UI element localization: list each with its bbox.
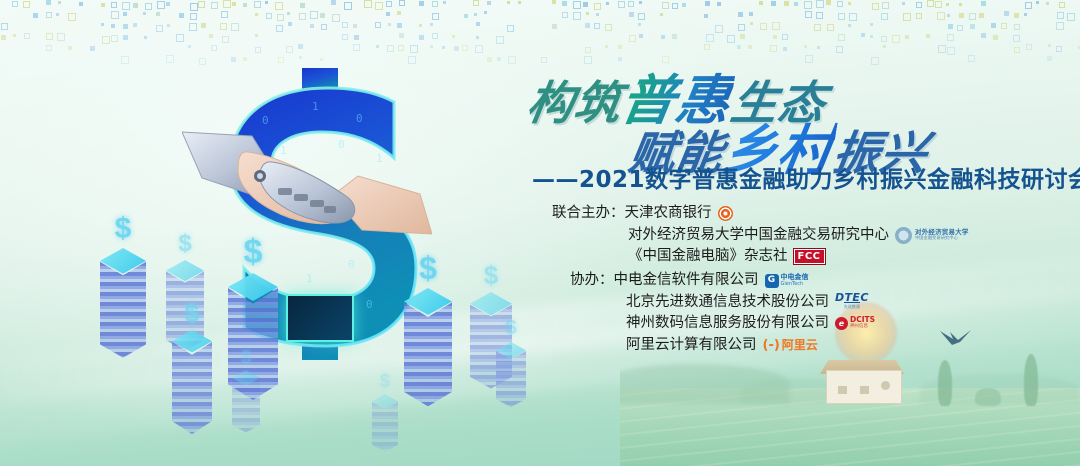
mosaic-square (507, 25, 514, 32)
mosaic-square (892, 35, 900, 43)
mosaic-square (947, 14, 950, 17)
dollar-sign-icon: $ (172, 300, 212, 326)
mosaic-square (145, 3, 152, 10)
sponsors-label: 协办： (570, 270, 614, 292)
mosaic-square (399, 0, 405, 6)
mosaic-square (1056, 46, 1062, 52)
mosaic-square (981, 1, 986, 6)
mosaic-square (870, 23, 873, 26)
mosaic-square (605, 45, 608, 48)
mosaic-square (397, 11, 401, 15)
aliyun-logo: (-) 阿里云 (763, 339, 818, 352)
sponsor-row: 神州数码信息服务股份有限公司 e DCITS 神州信息 (570, 313, 875, 335)
mosaic-square (101, 23, 104, 26)
mosaic-square (705, 1, 710, 6)
mosaic-square (738, 24, 745, 31)
mosaic-square (156, 25, 163, 32)
mosaic-square (399, 33, 404, 38)
mosaic-square (596, 13, 599, 16)
mosaic-square (662, 2, 669, 9)
uibe-logo-sub: 中国金融交易研究中心 (915, 235, 969, 241)
mosaic-square (299, 13, 306, 20)
mosaic-square (1026, 44, 1032, 50)
sponsor-name: 北京先进数通信息技术股份公司 (626, 292, 829, 314)
mosaic-square (443, 1, 446, 4)
mosaic-square (583, 2, 588, 7)
sponsor-name: 阿里云计算有限公司 (626, 335, 757, 357)
mosaic-square (562, 12, 568, 18)
mosaic-square (661, 35, 665, 39)
mosaic-square (133, 23, 137, 27)
mosaic-square (298, 44, 303, 49)
mosaic-square (993, 35, 998, 40)
coin-stack: $ (496, 318, 526, 408)
mosaic-square (398, 45, 404, 51)
mosaic-square (90, 46, 95, 51)
mosaic-square (804, 45, 807, 48)
svg-text:0: 0 (348, 258, 355, 271)
mosaic-square (442, 46, 445, 49)
mosaic-square (1048, 44, 1051, 47)
mosaic-square (783, 47, 787, 51)
mosaic-square (937, 12, 945, 20)
mosaic-square (959, 13, 964, 18)
mosaic-square (946, 3, 949, 6)
mosaic-square (508, 56, 516, 64)
mosaic-square (826, 0, 831, 5)
fcc-logo-text: FCC (794, 249, 825, 264)
mosaic-square (222, 36, 229, 43)
mosaic-square (883, 45, 886, 48)
fcc-logo: FCC (794, 249, 825, 264)
mosaic-square (209, 34, 213, 38)
mosaic-square (179, 13, 184, 18)
mosaic-square (594, 3, 601, 10)
mosaic-square (805, 11, 812, 18)
conference-banner: 010 101 010 10 (0, 0, 1080, 466)
mosaic-square (276, 25, 283, 32)
mosaic-square (223, 0, 231, 8)
mosaic-square (1004, 11, 1009, 16)
mosaic-square (1014, 24, 1020, 30)
mosaic-square (902, 2, 905, 5)
mosaic-square (848, 24, 851, 27)
mosaic-square (397, 23, 402, 28)
mosaic-square (353, 24, 357, 28)
mosaic-square (1057, 12, 1064, 19)
mosaic-square (487, 1, 491, 5)
mosaic-square (1, 23, 8, 30)
mosaic-square (1036, 1, 1039, 4)
mosaic-square (462, 45, 468, 51)
mosaic-square (331, 0, 336, 5)
mosaic-square (1013, 35, 1020, 42)
dollar-sign-icon: $ (228, 235, 278, 269)
mosaic-square (201, 23, 206, 28)
mosaic-square (68, 46, 72, 50)
mosaic-square (102, 36, 110, 44)
sponsor-name: 神州数码信息服务股份有限公司 (626, 313, 829, 335)
mosaic-square (12, 1, 18, 7)
mosaic-square (133, 3, 138, 8)
mosaic-square (123, 24, 128, 29)
organizer-row: 对外经济贸易大学中国金融交易研究中心 对外经济贸易大学 中国金融交易研究中心 (552, 225, 969, 247)
mosaic-square (111, 2, 117, 8)
sponsor-row: 协办： 中电金信软件有限公司 G 中电金信 GienTech (570, 270, 875, 292)
mosaic-square (388, 23, 391, 26)
mosaic-square (353, 44, 360, 51)
mosaic-square (759, 1, 763, 5)
dtec-logo-cn: 先进数通 (844, 302, 860, 312)
mosaic-square (432, 1, 438, 7)
mosaic-square (771, 1, 776, 6)
mosaic-square (618, 1, 625, 8)
mosaic-square (354, 35, 359, 40)
organizer-row: 《中国金融电脑》杂志社 FCC (552, 246, 969, 268)
mosaic-square (606, 2, 609, 5)
mosaic-square (629, 12, 634, 17)
mosaic-square (24, 33, 30, 39)
svg-text:1: 1 (306, 272, 313, 285)
coin-stack-column (100, 262, 146, 358)
mosaic-square (737, 45, 741, 49)
sponsor-name: 中电金信软件有限公司 (614, 270, 759, 292)
mosaic-square (717, 2, 721, 6)
mosaic-square (903, 13, 911, 21)
mosaic-square (968, 55, 975, 62)
mosaic-square (375, 2, 383, 10)
bush (975, 388, 1001, 406)
mosaic-square (144, 36, 147, 39)
mosaic-square (33, 13, 38, 18)
mosaic-square (79, 2, 83, 6)
mosaic-square (166, 2, 170, 6)
mosaic-square (111, 35, 118, 42)
mosaic-square (13, 34, 16, 37)
uibe-seal-logo: 对外经济贸易大学 中国金融交易研究中心 (895, 227, 969, 244)
mosaic-square (804, 1, 812, 9)
mosaic-square (1056, 22, 1064, 30)
coin-stack-column (232, 378, 260, 432)
mosaic-square (476, 36, 479, 39)
mosaic-square (1059, 2, 1065, 8)
mosaic-square (497, 57, 501, 61)
mosaic-square (740, 34, 745, 39)
mosaic-square (310, 11, 318, 19)
mosaic-square (452, 35, 455, 38)
coin-stack: $ (172, 300, 212, 432)
mosaic-square (454, 46, 459, 51)
mosaic-square (56, 13, 59, 16)
mosaic-square (386, 1, 392, 7)
mosaic-square (738, 12, 743, 17)
mosaic-square (277, 14, 284, 21)
mosaic-square (484, 11, 487, 14)
handshake-illustration (182, 126, 432, 256)
house-round-window (881, 381, 890, 390)
mosaic-square (586, 12, 589, 15)
title-part: 构筑 (523, 67, 627, 133)
dollar-sign-icon: $ (232, 348, 260, 366)
mosaic-square (46, 45, 52, 51)
mosaic-square (275, 2, 283, 10)
dollar-sign-icon: $ (372, 372, 398, 390)
mosaic-square (432, 33, 438, 39)
organizer-name: 天津农商银行 (625, 203, 712, 225)
mosaic-square (232, 2, 236, 6)
mosaic-square (672, 34, 677, 39)
mosaic-square (419, 35, 424, 40)
mosaic-square (816, 0, 824, 8)
mosaic-square (231, 23, 239, 31)
mosaic-square (594, 23, 600, 29)
mosaic-square (288, 22, 292, 26)
mosaic-square (727, 35, 735, 43)
mosaic-square (300, 3, 305, 8)
mosaic-square (46, 12, 52, 18)
mosaic-square (704, 14, 708, 18)
mosaic-square (916, 2, 922, 8)
mosaic-square (419, 24, 422, 27)
mosaic-square (838, 13, 845, 20)
dollar-sign-icon: $ (166, 232, 204, 256)
sponsors-block: 协办： 中电金信软件有限公司 G 中电金信 GienTech 北京先进数通信息技… (570, 270, 875, 356)
svg-text:0: 0 (356, 112, 363, 125)
mosaic-square (871, 57, 879, 65)
mosaic-square (46, 33, 53, 40)
coin-stack: $ (372, 372, 398, 454)
mosaic-square (310, 24, 314, 28)
mosaic-square (870, 35, 873, 38)
mosaic-square (123, 12, 127, 16)
mosaic-square (905, 35, 909, 39)
mosaic-square (957, 25, 963, 31)
mosaic-square (748, 45, 752, 49)
mosaic-square (773, 35, 777, 39)
mosaic-square (198, 1, 205, 8)
dollar-sign-icon: $ (404, 252, 452, 284)
sponsor-row: 北京先进数通信息技术股份公司 DTEC 先进数通 (570, 292, 875, 314)
mosaic-square (190, 3, 198, 11)
coin-stack: $ (232, 348, 260, 434)
mosaic-square (1014, 13, 1019, 18)
sponsor-row: 阿里云计算有限公司 (-) 阿里云 (570, 335, 875, 357)
coin-stack-column (372, 402, 398, 452)
mosaic-square (464, 14, 468, 18)
mosaic-square (1, 35, 6, 40)
mosaic-square (487, 57, 492, 62)
mosaic-square (176, 34, 184, 42)
mosaic-square (364, 0, 372, 8)
mosaic-square (981, 33, 986, 38)
mosaic-square (749, 12, 753, 16)
mosaic-square (872, 3, 879, 10)
mosaic-square (254, 1, 261, 8)
mosaic-square (849, 13, 857, 21)
house-window (838, 386, 847, 394)
mosaic-square (682, 3, 686, 7)
mosaic-square (861, 33, 865, 37)
coin-stack-column (404, 302, 452, 406)
mosaic-square (882, 2, 889, 9)
mosaic-square (1047, 56, 1052, 61)
mosaic-square (562, 1, 567, 6)
mosaic-square (321, 24, 327, 30)
mosaic-square (121, 56, 129, 64)
mosaic-square (189, 23, 197, 31)
gientech-logo: G 中电金信 GienTech (765, 274, 809, 288)
house-window (860, 386, 869, 394)
gientech-logo-en: GienTech (781, 281, 809, 288)
mosaic-square (704, 44, 710, 50)
mosaic-square (111, 11, 119, 19)
mosaic-square (935, 1, 942, 8)
mosaic-square (476, 22, 480, 26)
gientech-logo-mark: G (765, 274, 779, 288)
mosaic-square (794, 2, 798, 6)
cypress-tree (1024, 354, 1038, 406)
mosaic-square (660, 13, 663, 16)
dtec-logo-en: DTEC (835, 294, 869, 302)
mosaic-square (101, 3, 105, 7)
mosaic-square (927, 0, 934, 7)
mosaic-square (376, 45, 379, 48)
aliyun-logo-cn: 阿里云 (782, 339, 818, 352)
mosaic-square (57, 33, 65, 41)
mosaic-square (111, 24, 115, 28)
mosaic-square (760, 23, 767, 30)
mosaic-square (190, 13, 197, 20)
mosaic-square (947, 34, 954, 41)
mosaic-square (881, 36, 887, 42)
mosaic-square (947, 47, 955, 55)
coin-stack-column (172, 342, 212, 434)
mosaic-square (881, 13, 888, 20)
mosaic-square (814, 24, 821, 31)
mosaic-square (474, 13, 477, 16)
mosaic-square (970, 24, 975, 29)
mosaic-square (255, 13, 258, 16)
mosaic-square (638, 23, 641, 26)
dollar-sign-icon: $ (470, 262, 512, 288)
mosaic-square (211, 45, 217, 51)
mosaic-square (672, 3, 678, 9)
mosaic-square (419, 1, 424, 6)
mosaic-square (750, 22, 753, 25)
cypress-tree (938, 360, 952, 406)
svg-text:0: 0 (366, 298, 373, 311)
mosaic-square (387, 45, 394, 52)
mosaic-square (638, 13, 645, 20)
organizers-label: 联合主办： (552, 203, 625, 225)
mosaic-square (585, 47, 591, 53)
mosaic-square (68, 13, 76, 21)
mosaic-square (1001, 23, 1007, 29)
mosaic-square (573, 1, 581, 9)
aliyun-logo-bracket: (-) (763, 339, 780, 352)
mosaic-square (629, 35, 636, 42)
dcits-logo-mark: e (835, 317, 848, 330)
swallow-bird-icon (938, 328, 972, 348)
mosaic-square (938, 45, 946, 53)
organizer-name: 《中国金融电脑》杂志社 (628, 246, 788, 268)
pixel-mosaic-pattern (0, 0, 1080, 56)
mosaic-square (827, 24, 834, 31)
svg-text:1: 1 (312, 100, 319, 113)
mosaic-square (618, 45, 622, 49)
mosaic-square (782, 34, 788, 40)
mosaic-square (432, 13, 439, 20)
mosaic-square (639, 34, 643, 38)
mosaic-square (837, 1, 843, 7)
mosaic-square (221, 11, 228, 18)
mosaic-square (167, 24, 170, 27)
mosaic-square (166, 55, 174, 63)
trcb-spiral-logo (718, 206, 733, 221)
mosaic-square (123, 35, 128, 40)
mosaic-square (1067, 13, 1075, 21)
mosaic-square (58, 1, 61, 4)
mosaic-square (46, 0, 51, 5)
organizer-row: 联合主办： 天津农商银行 (552, 203, 969, 225)
dollar-sign-icon: $ (100, 214, 146, 244)
mosaic-square (948, 24, 953, 29)
mosaic-square (573, 12, 581, 20)
coin-stack: $ (100, 214, 146, 354)
mosaic-square (605, 24, 612, 31)
mosaic-square (715, 25, 723, 33)
mosaic-square (552, 0, 556, 4)
organizer-name: 对外经济贸易大学中国金融交易研究中心 (628, 225, 889, 247)
mosaic-square (473, 0, 479, 6)
mosaic-square (188, 45, 191, 48)
mosaic-square (816, 12, 823, 19)
mosaic-square (157, 1, 165, 9)
mosaic-square (639, 1, 642, 4)
organizers-block: 联合主办： 天津农商银行 对外经济贸易大学中国金融交易研究中心 对外经济贸易大学… (552, 203, 969, 268)
mosaic-square (507, 1, 510, 4)
coin-stack-column (496, 351, 526, 407)
mosaic-square (552, 24, 557, 29)
mosaic-square (1014, 47, 1020, 53)
mosaic-square (156, 12, 160, 16)
mosaic-square (628, 1, 634, 7)
mosaic-square (320, 13, 325, 18)
dcits-logo-cn: 神州信息 (850, 324, 875, 331)
mosaic-square (344, 2, 352, 10)
farmhouse-illustration (820, 362, 904, 404)
mosaic-square (959, 3, 962, 6)
mosaic-square (817, 46, 820, 49)
mosaic-square (1024, 13, 1027, 16)
subtitle: ——2021数字普惠金融助力乡村振兴金融科技研讨会 (532, 160, 1080, 194)
mosaic-square (211, 2, 218, 9)
mosaic-square (518, 1, 521, 4)
mosaic-square (287, 12, 290, 15)
mosaic-square (926, 34, 930, 38)
mosaic-square (836, 46, 843, 53)
mosaic-square (265, 1, 268, 4)
dollar-sign-icon: $ (496, 318, 526, 338)
mosaic-square (979, 13, 984, 18)
mosaic-square (430, 23, 433, 26)
mosaic-square (784, 1, 789, 6)
mosaic-square (1025, 2, 1032, 9)
mosaic-square (969, 13, 976, 20)
mosaic-square (838, 34, 845, 41)
floating-screen (286, 294, 354, 342)
mosaic-square (916, 13, 922, 19)
